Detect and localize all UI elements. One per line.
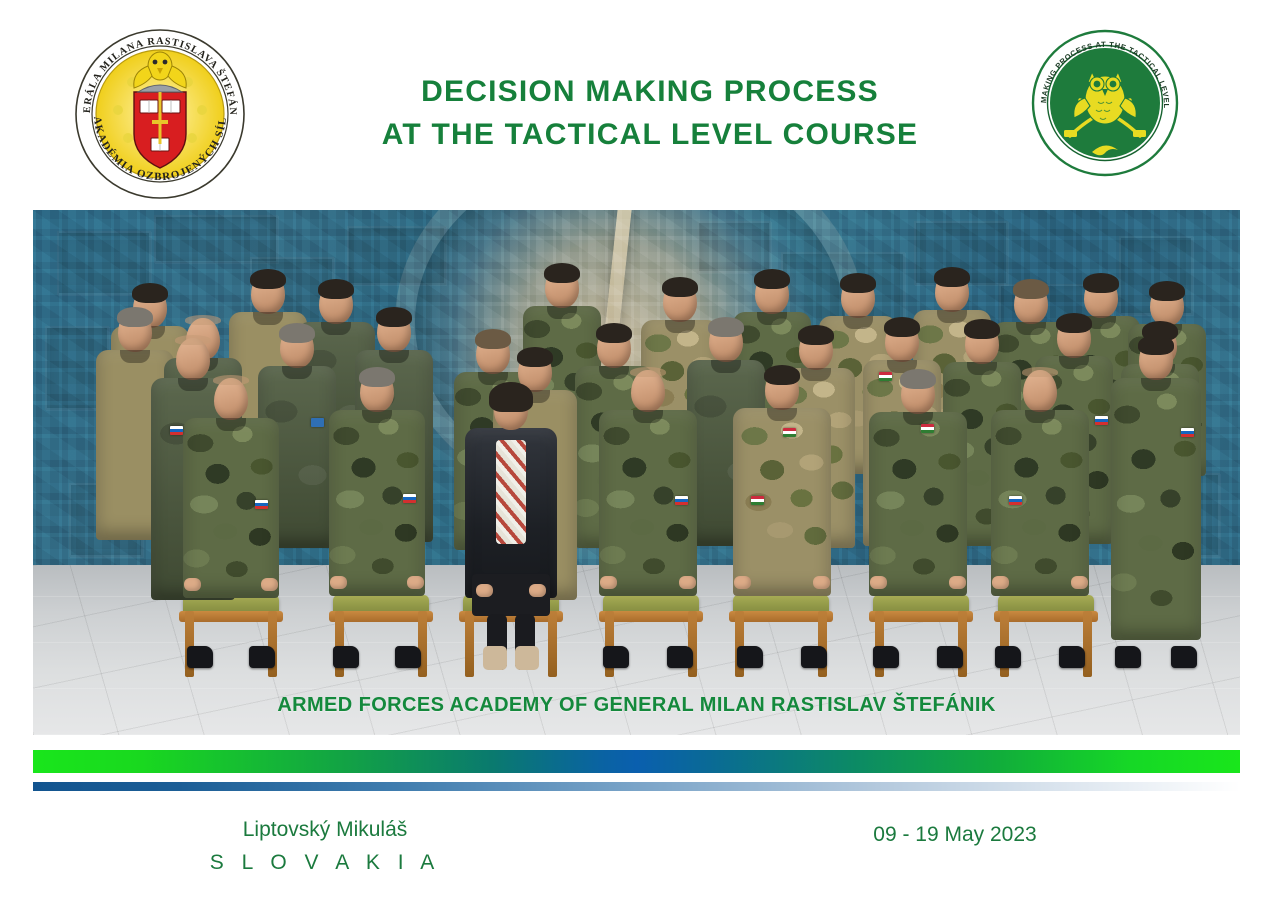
country-label: S L O V A K I A <box>175 846 475 879</box>
green-gradient-bar <box>33 750 1240 773</box>
participant-seated <box>991 370 1089 668</box>
participants <box>33 210 1240 735</box>
poster-page: GENERÁLA MILANA RASTISLAVA ŠTEFÁNIKA AKA… <box>0 0 1273 900</box>
armed-forces-academy-seal-icon: GENERÁLA MILANA RASTISLAVA ŠTEFÁNIKA AKA… <box>72 26 248 202</box>
course-dates: 09 - 19 May 2023 <box>790 823 1120 847</box>
participant-seated <box>733 368 831 668</box>
course-emblem-icon: • DECISION MAKING PROCESS AT THE TACTICA… <box>1030 28 1180 178</box>
boots <box>481 646 541 670</box>
header: GENERÁLA MILANA RASTISLAVA ŠTEFÁNIKA AKA… <box>0 0 1273 205</box>
participant <box>1111 338 1201 668</box>
city-label: Liptovský Mikuláš <box>175 813 475 846</box>
location-block: Liptovský Mikuláš S L O V A K I A <box>175 813 475 879</box>
photo-caption: ARMED FORCES ACADEMY OF GENERAL MILAN RA… <box>33 694 1240 717</box>
blue-gradient-bar <box>33 782 1240 791</box>
participant-seated <box>183 378 279 668</box>
footer: Liptovský Mikuláš S L O V A K I A 09 - 1… <box>0 795 1273 900</box>
participant-seated <box>329 370 425 668</box>
participant-seated <box>599 370 697 668</box>
group-photo: ARMED FORCES ACADEMY OF GENERAL MILAN RA… <box>33 210 1240 735</box>
title-line-1: DECISION MAKING PROCESS <box>300 70 1000 113</box>
participant-seated-civilian <box>465 388 557 670</box>
title-line-2: AT THE TACTICAL LEVEL COURSE <box>300 113 1000 156</box>
blouse <box>496 440 526 544</box>
participant-seated <box>869 372 967 668</box>
poster-title: DECISION MAKING PROCESS AT THE TACTICAL … <box>300 70 1000 156</box>
